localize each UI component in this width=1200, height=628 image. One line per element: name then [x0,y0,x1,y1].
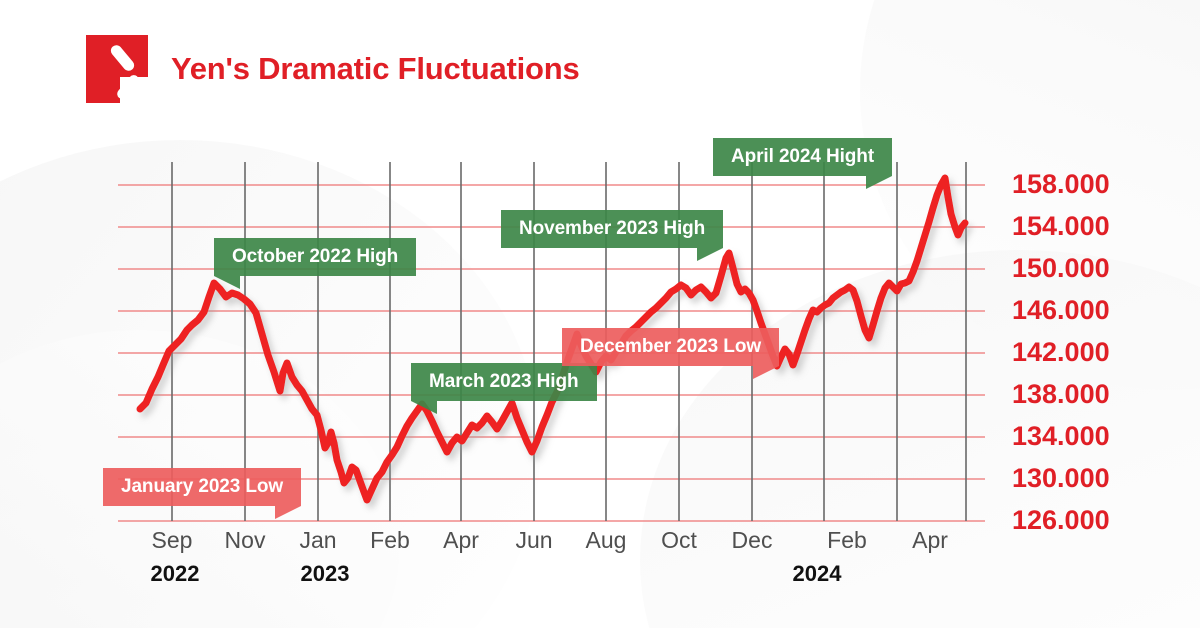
callout-tail-icon [214,276,240,289]
x-tick-oct-2023: Oct [661,527,697,554]
callout-tail-icon [753,366,779,379]
annotation-label: March 2023 High [429,371,579,393]
x-tick-jan-2023: Jan [299,527,336,554]
year-label-2024: 2024 [793,561,842,587]
x-tick-dec-2023: Dec [732,527,773,554]
annotation-label: April 2024 Hight [731,146,874,168]
x-axis-labels: Sep Nov Jan Feb Apr Jun Aug Oct Dec Feb … [0,0,1200,628]
annotation-label: November 2023 High [519,218,705,240]
callout-tail-icon [275,506,301,519]
annotation-label: January 2023 Low [121,476,283,498]
year-label-2022: 2022 [151,561,200,587]
x-tick-apr-2024: Apr [912,527,948,554]
annotation-label: December 2023 Low [580,336,761,358]
annotation-november-2023-high: November 2023 High [501,210,723,248]
x-tick-jun-2023: Jun [515,527,552,554]
x-tick-aug-2023: Aug [586,527,627,554]
callout-tail-icon [411,401,437,414]
annotation-october-2022-high: October 2022 High [214,238,416,276]
annotation-december-2023-low: December 2023 Low [562,328,779,366]
x-tick-feb-2024: Feb [827,527,867,554]
x-tick-feb-2023: Feb [370,527,410,554]
annotation-april-2024-high: April 2024 Hight [713,138,892,176]
callout-tail-icon [697,248,723,261]
annotation-label: October 2022 High [232,246,398,268]
annotation-january-2023-low: January 2023 Low [103,468,301,506]
year-label-2023: 2023 [301,561,350,587]
x-tick-sep-2022: Sep [152,527,193,554]
x-tick-nov-2022: Nov [225,527,266,554]
x-tick-apr-2023: Apr [443,527,479,554]
annotation-march-2023-high: March 2023 High [411,363,597,401]
callout-tail-icon [866,176,892,189]
infographic-canvas: Yen's Dramatic Fluctuations [0,0,1200,628]
